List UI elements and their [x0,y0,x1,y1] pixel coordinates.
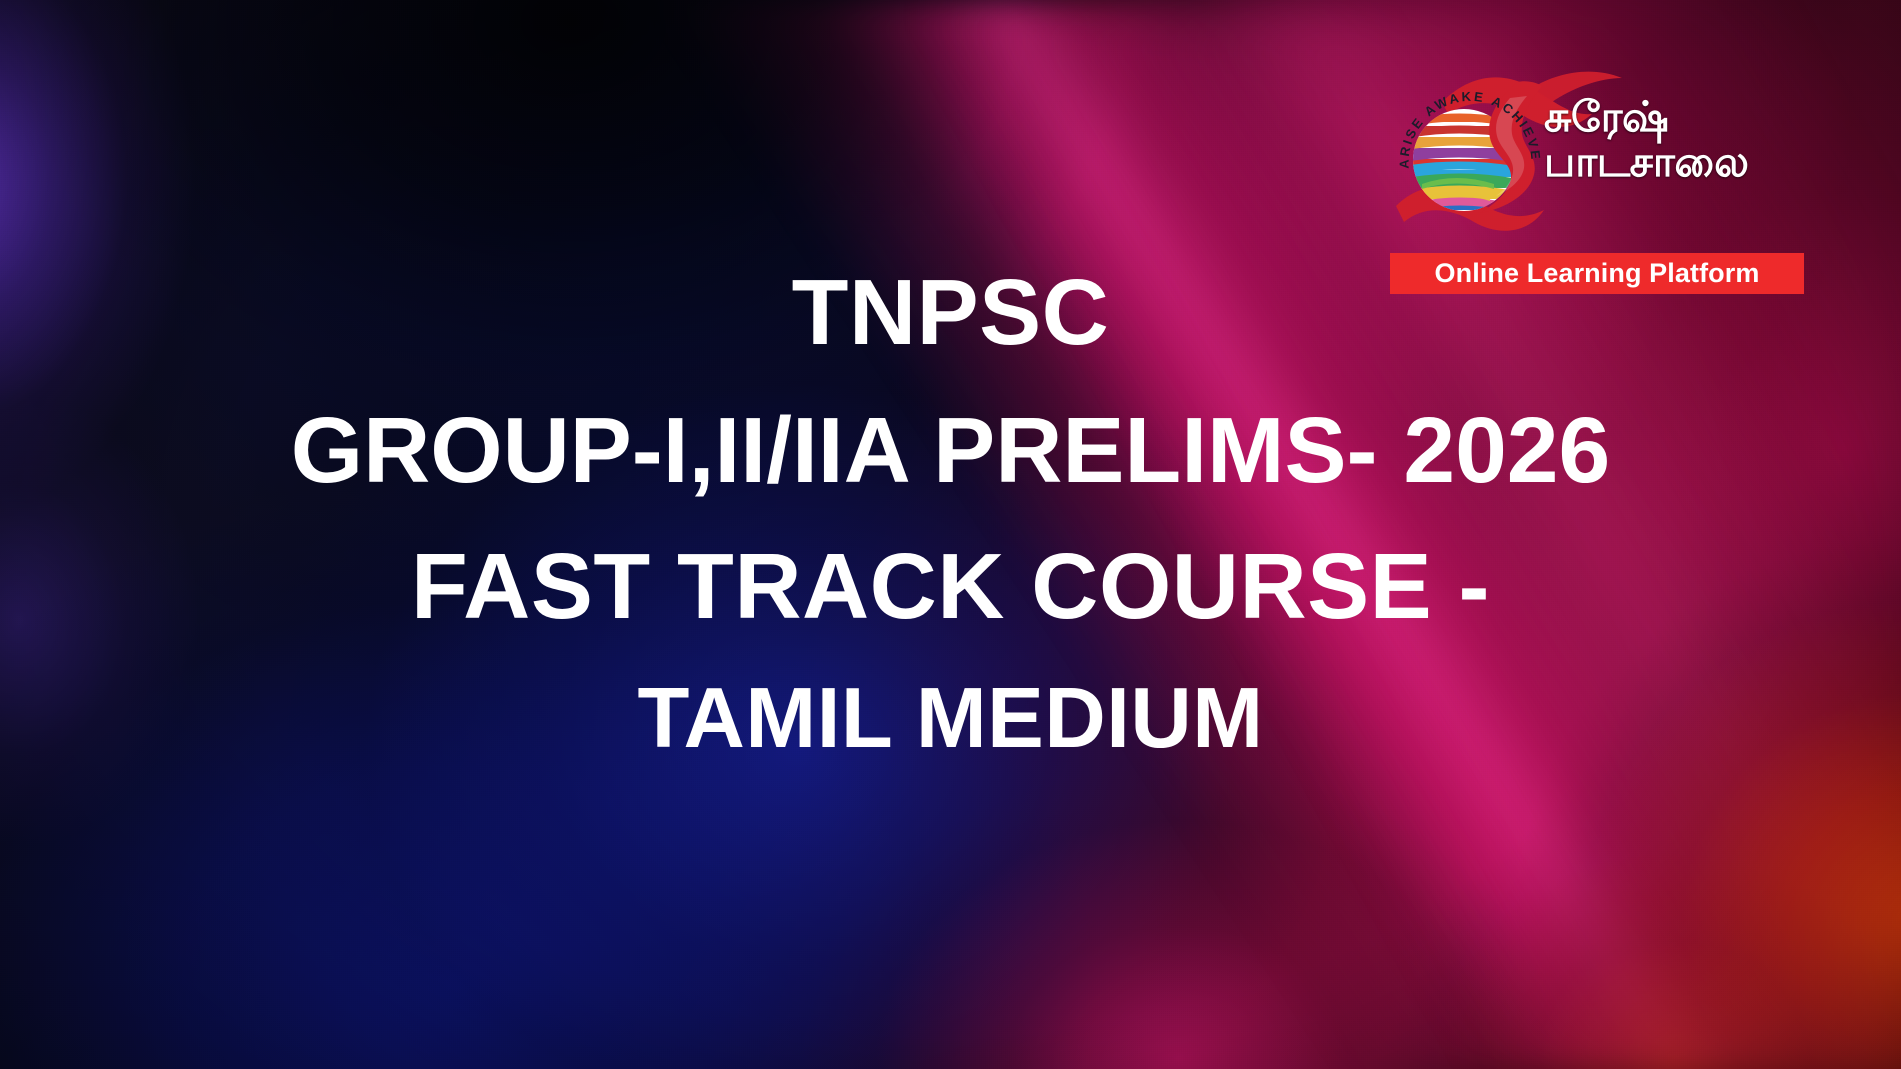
title-line-3: FAST TRACK COURSE - [0,518,1901,654]
poster-title: TNPSC GROUP-I,II/IIA PRELIMS- 2026 FAST … [0,243,1901,784]
title-line-4: TAMIL MEDIUM [0,654,1901,784]
brand-name-tamil: சுரேஷ் பாடசாலை [1544,95,1814,185]
logo-mark: ARISE AWAKE ACHIEVE சுரேஷ் பாடசாலை [1386,58,1812,248]
title-line-2: GROUP-I,II/IIA PRELIMS- 2026 [0,382,1901,518]
title-line-1: TNPSC [0,243,1901,382]
brand-name-tamil-line1: சுரேஷ் [1544,95,1814,140]
brand-name-tamil-line2: பாடசாலை [1544,140,1814,185]
course-poster: ARISE AWAKE ACHIEVE சுரேஷ் பாடசாலை Onlin… [0,0,1901,1069]
